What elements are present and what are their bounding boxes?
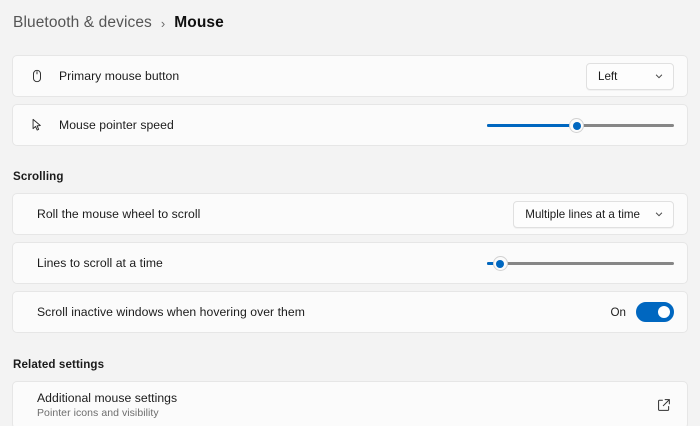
wheel-scroll-dropdown[interactable]: Multiple lines at a time: [513, 201, 674, 228]
cursor-arrow-icon: [27, 115, 47, 135]
row-wheel-scroll-left: Roll the mouse wheel to scroll: [13, 194, 513, 234]
row-mouse-pointer-speed-right: [487, 113, 687, 137]
mouse-icon: [27, 66, 47, 86]
scroll-inactive-windows-toggle[interactable]: [636, 302, 674, 322]
additional-mouse-settings-text: Additional mouse settings Pointer icons …: [37, 391, 177, 419]
slider-thumb[interactable]: [496, 260, 504, 268]
primary-mouse-button-dropdown-value: Left: [598, 70, 617, 83]
row-scroll-inactive-windows-right: On: [611, 302, 687, 322]
row-lines-to-scroll-left: Lines to scroll at a time: [13, 243, 487, 283]
breadcrumb: Bluetooth & devices › Mouse: [0, 0, 700, 46]
row-lines-to-scroll-right: [487, 251, 687, 275]
row-lines-to-scroll-label: Lines to scroll at a time: [37, 256, 163, 270]
row-additional-mouse-settings-label: Additional mouse settings: [37, 391, 177, 405]
slider-track: [487, 262, 674, 265]
slider-fill: [487, 124, 577, 127]
external-link-icon[interactable]: [657, 398, 671, 412]
row-wheel-scroll-right: Multiple lines at a time: [513, 201, 687, 228]
settings-page: Bluetooth & devices › Mouse Primary mous…: [0, 0, 700, 426]
row-wheel-scroll-label: Roll the mouse wheel to scroll: [37, 207, 200, 221]
row-scroll-inactive-windows-label: Scroll inactive windows when hovering ov…: [37, 305, 305, 319]
row-additional-mouse-settings-left: Additional mouse settings Pointer icons …: [13, 382, 657, 426]
row-additional-mouse-settings-right: [657, 398, 687, 412]
row-primary-mouse-button-right: Left: [586, 63, 687, 90]
breadcrumb-separator-icon: ›: [161, 16, 165, 31]
primary-mouse-button-dropdown[interactable]: Left: [586, 63, 674, 90]
toggle-state-label: On: [611, 306, 626, 319]
row-mouse-pointer-speed: Mouse pointer speed: [12, 104, 688, 146]
row-mouse-pointer-speed-left: Mouse pointer speed: [13, 105, 487, 145]
chevron-down-icon: [654, 71, 664, 81]
breadcrumb-parent-link[interactable]: Bluetooth & devices: [13, 14, 152, 32]
slider-thumb[interactable]: [573, 122, 581, 130]
lines-to-scroll-slider[interactable]: [487, 251, 674, 275]
row-scroll-inactive-windows-left: Scroll inactive windows when hovering ov…: [13, 292, 611, 332]
row-scroll-inactive-windows: Scroll inactive windows when hovering ov…: [12, 291, 688, 333]
section-header-scrolling: Scrolling: [13, 170, 64, 183]
row-primary-mouse-button-left: Primary mouse button: [13, 56, 586, 96]
wheel-scroll-dropdown-value: Multiple lines at a time: [525, 208, 640, 221]
chevron-down-icon: [654, 209, 664, 219]
row-wheel-scroll: Roll the mouse wheel to scroll Multiple …: [12, 193, 688, 235]
page-title: Mouse: [174, 14, 224, 32]
section-header-related-settings: Related settings: [13, 358, 104, 371]
row-lines-to-scroll: Lines to scroll at a time: [12, 242, 688, 284]
row-mouse-pointer-speed-label: Mouse pointer speed: [59, 118, 174, 132]
toggle-knob: [658, 306, 670, 318]
row-additional-mouse-settings-sublabel: Pointer icons and visibility: [37, 407, 177, 419]
row-primary-mouse-button-label: Primary mouse button: [59, 69, 179, 83]
mouse-pointer-speed-slider[interactable]: [487, 113, 674, 137]
row-additional-mouse-settings[interactable]: Additional mouse settings Pointer icons …: [12, 381, 688, 426]
row-primary-mouse-button: Primary mouse button Left: [12, 55, 688, 97]
